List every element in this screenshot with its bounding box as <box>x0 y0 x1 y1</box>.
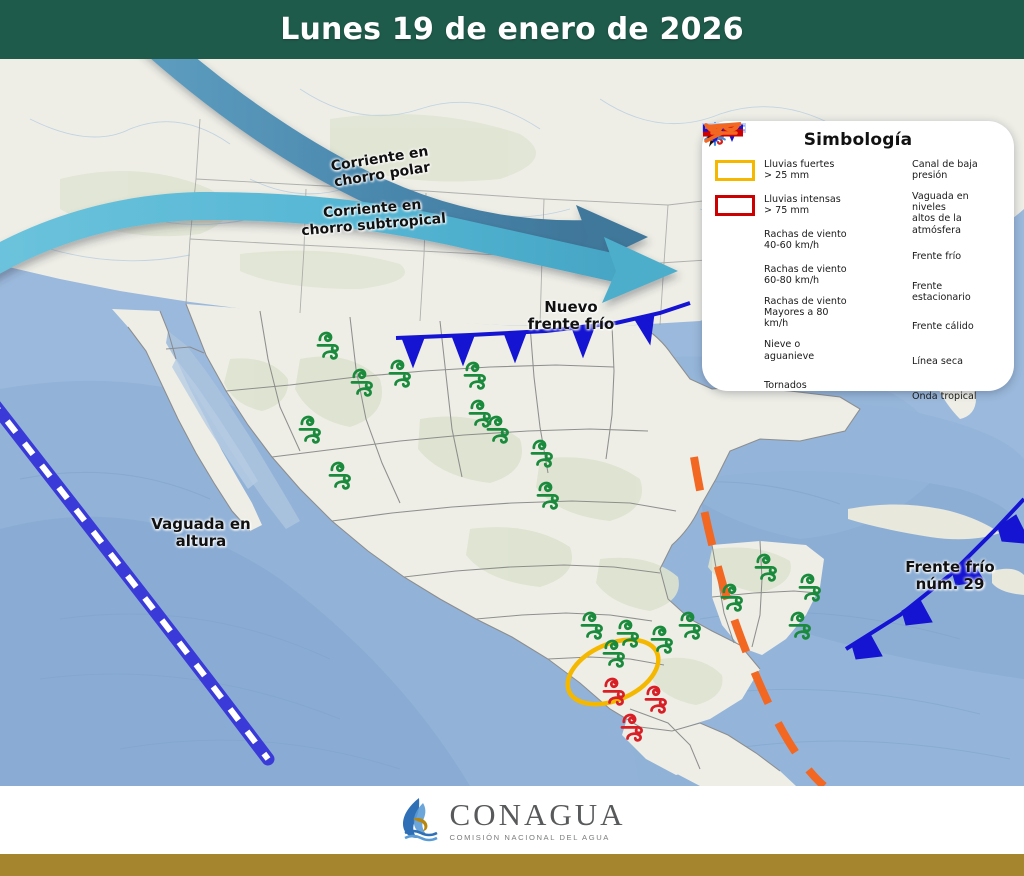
legend-label: Rachas de viento 40-60 km/h <box>764 229 847 251</box>
footer: CONAGUA COMISIÓN NACIONAL DEL AGUA <box>0 786 1024 854</box>
legend-item-wind-green[interactable]: Rachas de viento 40-60 km/h <box>713 226 855 254</box>
legend-label: Línea seca <box>912 356 963 367</box>
label-upper-trough: Vaguada en altura <box>128 516 274 550</box>
label-subtropical-jet: Corriente en chorro subtropical <box>277 194 469 242</box>
label-polar-jet: Corriente en chorro polar <box>295 139 468 197</box>
tropical-wave-icon <box>861 384 905 410</box>
legend-item-snow[interactable]: Nieve o aguanieve <box>713 337 855 365</box>
legend-label: Lluvias fuertes > 25 mm <box>764 159 834 181</box>
legend-panel: Simbología Lluvias fuertes > 25 mm <box>702 121 1014 391</box>
legend-label: Rachas de viento 60-80 km/h <box>764 264 847 286</box>
snow-icon <box>713 338 757 364</box>
legend-title: Simbología <box>713 130 1003 150</box>
upper-level-trough-icon <box>861 200 905 226</box>
legend-right-column: Canal de baja presión Vaguada en niveles… <box>861 156 1003 411</box>
rain-heavy-swatch-icon <box>713 157 757 183</box>
legend-left-column: Lluvias fuertes > 25 mm Lluvias intensas… <box>713 156 855 411</box>
legend-item-tornado[interactable]: Tornados <box>713 372 855 400</box>
weather-map: Corriente en chorro polar Corriente en c… <box>0 59 1024 786</box>
label-cold-front-29: Frente frío núm. 29 <box>888 559 1012 593</box>
label-new-cold-front: Nuevo frente frío <box>512 299 630 333</box>
legend-item-wind-red[interactable]: Rachas de viento Mayores a 80 km/h <box>713 296 855 330</box>
legend-item-warm-front[interactable]: Frente cálido <box>861 313 1003 341</box>
wind-red-icon <box>713 300 757 326</box>
dry-line-icon <box>861 349 905 375</box>
legend-item-stationary-front[interactable]: Frente estacionario <box>861 278 1003 306</box>
legend-item-tropical-wave[interactable]: Onda tropical <box>861 383 1003 411</box>
legend-item-wind-orange[interactable]: Rachas de viento 60-80 km/h <box>713 261 855 289</box>
tornado-icon <box>713 373 757 399</box>
legend-label: Canal de baja presión <box>912 159 978 181</box>
stationary-front-icon <box>861 279 905 305</box>
wind-orange-icon <box>713 262 757 288</box>
weather-map-page: Lunes 19 de enero de 2026 <box>0 0 1024 876</box>
legend-label: Frente estacionario <box>912 281 971 303</box>
legend-label: Vaguada en niveles altos de la atmósfera <box>912 191 1003 236</box>
cold-front-icon <box>861 244 905 270</box>
legend-label: Frente frío <box>912 251 961 262</box>
legend-label: Onda tropical <box>912 391 977 402</box>
legend-label: Frente cálido <box>912 321 974 332</box>
gold-accent-bar <box>0 854 1024 876</box>
legend-item-low-pressure-channel[interactable]: Canal de baja presión <box>861 156 1003 184</box>
legend-item-intense-rain[interactable]: Lluvias intensas > 75 mm <box>713 191 855 219</box>
wind-green-icon <box>713 227 757 253</box>
legend-item-cold-front[interactable]: Frente frío <box>861 243 1003 271</box>
legend-label: Lluvias intensas > 75 mm <box>764 194 841 216</box>
legend-item-dry-line[interactable]: Línea seca <box>861 348 1003 376</box>
header-banner: Lunes 19 de enero de 2026 <box>0 0 1024 59</box>
page-title: Lunes 19 de enero de 2026 <box>280 12 744 47</box>
logo-subtitle: COMISIÓN NACIONAL DEL AGUA <box>450 833 626 842</box>
warm-front-icon <box>861 314 905 340</box>
legend-item-upper-trough[interactable]: Vaguada en niveles altos de la atmósfera <box>861 191 1003 236</box>
conagua-logo-icon <box>399 797 439 843</box>
logo-name: CONAGUA <box>450 799 626 830</box>
low-pressure-channel-icon <box>861 157 905 183</box>
conagua-logo-text: CONAGUA COMISIÓN NACIONAL DEL AGUA <box>450 799 626 842</box>
rain-intense-swatch-icon <box>713 192 757 218</box>
legend-label: Rachas de viento Mayores a 80 km/h <box>764 296 855 330</box>
legend-label: Nieve o aguanieve <box>764 339 814 361</box>
legend-label: Tornados <box>764 380 807 391</box>
legend-item-heavy-rain[interactable]: Lluvias fuertes > 25 mm <box>713 156 855 184</box>
